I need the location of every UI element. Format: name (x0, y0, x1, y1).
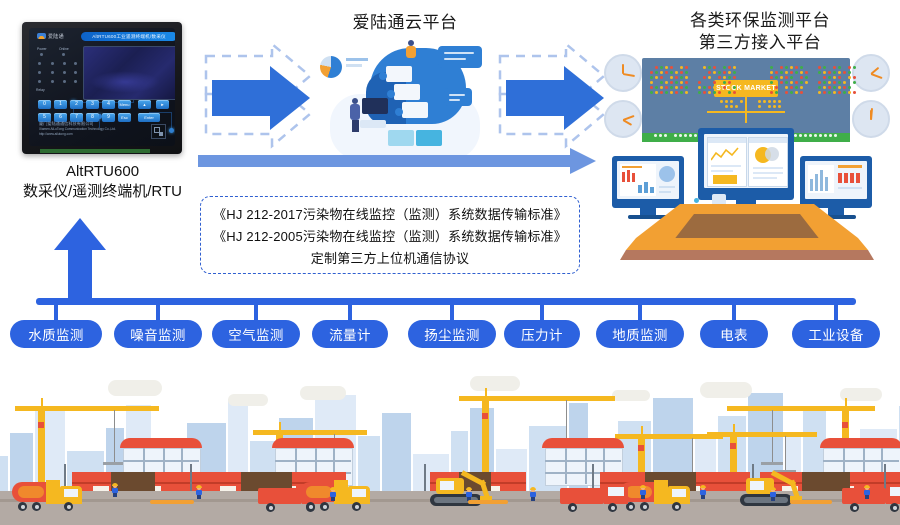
cement-mixer-truck (12, 478, 84, 512)
sensor-pill-label: 扬尘监测 (424, 324, 480, 344)
company-url: http://www.ailutong.com (39, 132, 116, 137)
desk-dot (694, 198, 699, 203)
cloud-shape (300, 386, 346, 400)
third-party-line1: 各类环保监测平台 (620, 10, 900, 32)
construction-worker (640, 486, 646, 499)
construction-worker (112, 484, 118, 497)
server-unit (386, 66, 412, 82)
construction-worker (330, 488, 336, 501)
arrow-right-icon (198, 42, 316, 154)
enter-key[interactable]: Enter (138, 113, 160, 122)
rtu-terminal-strip (40, 149, 150, 153)
led-label-online: Online (59, 47, 69, 51)
qr-code-icon (151, 124, 166, 139)
sensor-pill-5[interactable]: 扬尘监测 (408, 320, 496, 348)
clock-icon (852, 100, 890, 138)
monitoring-platform-illustration: STOCK MARKET (596, 48, 896, 276)
sensor-pill-label: 工业设备 (808, 324, 864, 344)
pill-riser (732, 302, 736, 322)
sensor-pill-label: 空气监测 (228, 324, 284, 344)
person-legs (352, 120, 359, 132)
device-caption: AltRTU600 数采仪/遥测终端机/RTU (10, 162, 195, 203)
dump-truck (842, 482, 900, 514)
server-dot (387, 90, 395, 98)
menu-key[interactable]: Menu (118, 100, 131, 109)
rtu-front-panel: 爱陆通 AltRTU600工业遥测终端机/数采仪 Power Online Re… (29, 28, 175, 146)
sensor-pill-3[interactable]: 空气监测 (212, 320, 300, 348)
cement-mixer-truck (620, 478, 692, 512)
keypad-key[interactable]: 1 (54, 100, 67, 109)
keypad-key[interactable]: 2 (70, 100, 83, 109)
rtu-company-text: 厦门爱陆通通信科技有限公司 Xiamen AiLuTong Communicat… (39, 121, 116, 137)
clock-icon (852, 54, 890, 92)
rtu-device-image: 爱陆通 AltRTU600工业遥测终端机/数采仪 Power Online Re… (22, 22, 182, 154)
chat-bubble (438, 46, 482, 68)
clock-icon (604, 54, 642, 92)
server-dot (379, 72, 387, 80)
cloud-shape (228, 394, 268, 406)
keypad-key[interactable]: 0 (38, 100, 51, 109)
desk-surface (360, 120, 386, 128)
person-body (406, 46, 416, 58)
arrow-right-icon (492, 42, 610, 154)
desktop-monitor (362, 98, 388, 114)
chat-bubble (444, 88, 472, 106)
sensor-pill-4[interactable]: 流量计 (312, 320, 388, 348)
construction-worker (530, 488, 536, 501)
relay-labels: Relay (36, 88, 45, 92)
sensor-pill-7[interactable]: 地质监测 (596, 320, 684, 348)
chart-bar (346, 58, 368, 61)
rtu-model-banner: AltRTU600工业遥测终端机/数采仪 (81, 32, 175, 41)
esc-key[interactable]: Esc (118, 113, 131, 122)
server-dot (395, 108, 403, 116)
pill-riser (638, 302, 642, 322)
rtu-lcd-screen (83, 46, 175, 100)
cloud-platform-heading: 爱陆通云平台 (310, 12, 500, 34)
construction-worker (864, 486, 870, 499)
protocol-standards-box: 《HJ 212-2017污染物在线监控（监测）系统数据传输标准》 《HJ 212… (200, 196, 580, 274)
right-key[interactable]: ► (156, 100, 169, 109)
up-key[interactable]: ▲ (138, 100, 151, 109)
brand-name: 爱陆通 (48, 34, 64, 40)
server-unit (402, 102, 428, 118)
pill-riser (156, 302, 160, 322)
data-card (388, 130, 414, 146)
sensor-pill-label: 流量计 (329, 324, 371, 344)
keypad-key[interactable]: 4 (102, 100, 115, 109)
construction-worker (770, 488, 776, 501)
brand-mark-icon (37, 33, 46, 39)
server-unit (394, 84, 420, 100)
sensor-pill-label: 电表 (720, 324, 748, 344)
skyline-building (0, 456, 8, 492)
protocol-line-3: 定制第三方上位机通信协议 (311, 248, 469, 267)
pill-riser (540, 302, 544, 322)
monitor-screen (617, 161, 679, 199)
pipe-load (468, 500, 508, 504)
sensor-pill-9[interactable]: 工业设备 (792, 320, 880, 348)
device-model-label: AltRTU600 (10, 162, 195, 182)
construction-worker (196, 486, 202, 499)
pipe-load (150, 500, 194, 504)
sensor-pill-label: 水质监测 (28, 324, 84, 344)
clock-icon (604, 100, 642, 138)
arrow-up-icon (48, 218, 112, 304)
pill-riser (450, 302, 454, 322)
right-monitor (800, 156, 872, 208)
long-arrow-right-icon (198, 148, 596, 174)
monitor-screen (704, 134, 788, 188)
protocol-line-1: 《HJ 212-2017污染物在线监控（监测）系统数据传输标准》 (213, 204, 567, 223)
dump-truck (560, 482, 630, 514)
rtu-banner-text: AltRTU600工业遥测终端机/数采仪 (81, 32, 175, 41)
sensor-pill-8[interactable]: 电表 (700, 320, 768, 348)
sensor-pill-label: 地质监测 (612, 324, 668, 344)
sensor-pill-1[interactable]: 水质监测 (10, 320, 102, 348)
pill-riser (254, 302, 258, 322)
pipe-load (790, 500, 832, 504)
protocol-line-2: 《HJ 212-2005污染物在线监控（监测）系统数据传输标准》 (213, 226, 567, 245)
construction-site-illustration (0, 368, 900, 525)
sensor-pill-6[interactable]: 压力计 (504, 320, 580, 348)
desk-base (616, 204, 878, 260)
keypad-key[interactable]: 3 (86, 100, 99, 109)
pill-riser (834, 302, 838, 322)
center-monitor (698, 128, 794, 200)
skyline-building (382, 413, 411, 492)
monitor-screen (805, 161, 867, 199)
cloud-shape (700, 382, 752, 398)
cement-mixer-truck (300, 478, 372, 512)
construction-worker (700, 486, 706, 499)
sensor-pill-label: 噪音监测 (130, 324, 186, 344)
sensor-pill-label: 压力计 (521, 324, 563, 344)
sensor-pill-2[interactable]: 噪音监测 (114, 320, 202, 348)
rtu-brand-logo: 爱陆通 (37, 33, 64, 40)
data-card (416, 130, 442, 146)
chart-bar (346, 64, 362, 67)
pill-riser (54, 302, 58, 322)
pill-riser (348, 302, 352, 322)
led-label-power: Power (37, 47, 47, 51)
cloud-platform-title: 爱陆通云平台 (353, 13, 458, 32)
left-monitor (612, 156, 684, 208)
person-body (350, 104, 360, 120)
pie-chart-icon (320, 56, 342, 78)
cloud-shape (108, 380, 162, 396)
device-desc-label: 数采仪/遥测终端机/RTU (10, 182, 195, 202)
